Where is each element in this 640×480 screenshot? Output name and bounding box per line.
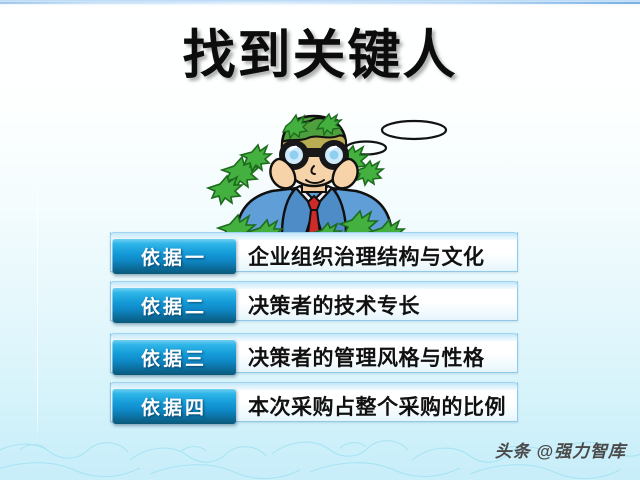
list-item[interactable]: 依据三 决策者的管理风格与性格 (110, 333, 518, 373)
row-text-4: 本次采购占整个采购的比例 (248, 388, 506, 424)
watermark: 头条 @强力智库 (495, 437, 626, 462)
row-tab-4[interactable]: 依据四 (112, 388, 236, 424)
row-tab-label: 依据二 (141, 292, 207, 319)
list-item[interactable]: 依据四 本次采购占整个采购的比例 (110, 382, 518, 422)
top-accent-bar (0, 0, 640, 6)
row-tab-label: 依据四 (141, 393, 207, 420)
row-tab-label: 依据三 (141, 344, 207, 371)
list-item[interactable]: 依据一 企业组织治理结构与文化 (110, 232, 518, 272)
slide-canvas: 找到关键人 (0, 0, 640, 480)
list-item[interactable]: 依据二 决策者的技术专长 (110, 281, 518, 321)
row-tab-1[interactable]: 依据一 (112, 238, 236, 274)
decorative-vertical-line (37, 178, 38, 440)
row-tab-3[interactable]: 依据三 (112, 339, 236, 375)
row-text-1: 企业组织治理结构与文化 (248, 238, 485, 274)
man-with-binoculars-illustration (196, 108, 456, 238)
page-title: 找到关键人 (0, 26, 640, 87)
row-tab-label: 依据一 (141, 243, 207, 270)
row-text-3: 决策者的管理风格与性格 (248, 339, 485, 375)
row-tab-2[interactable]: 依据二 (112, 287, 236, 323)
row-text-2: 决策者的技术专长 (248, 287, 420, 323)
